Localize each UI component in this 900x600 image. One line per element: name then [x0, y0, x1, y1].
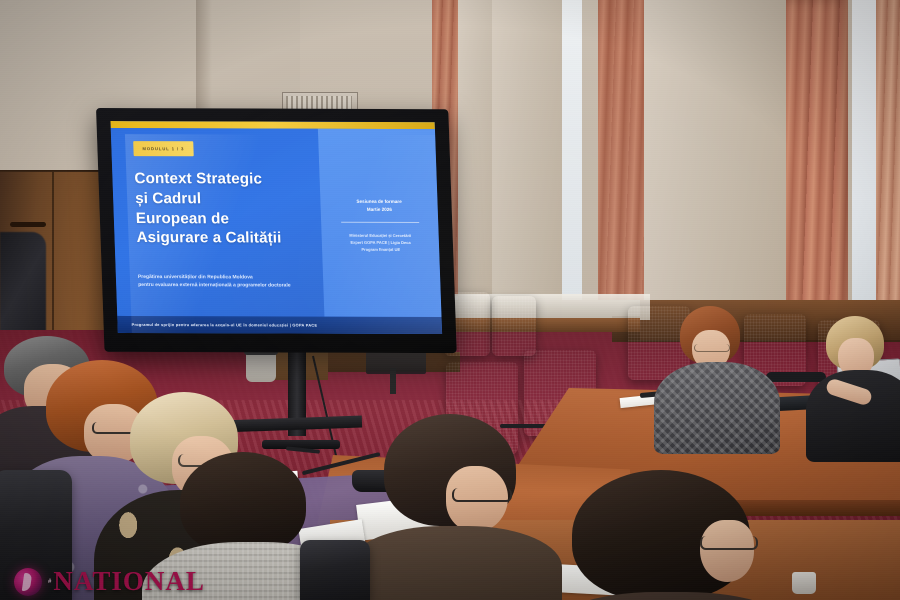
face [700, 520, 754, 582]
slide-org-line-3: Program finanțat UE [334, 246, 428, 254]
coat-hook [10, 222, 46, 227]
slide-title-line-1: Context Strategic [134, 169, 315, 189]
chair-foreground-middle [300, 540, 370, 600]
slide-module-badge: MODULUL 1 / 3 [133, 141, 193, 156]
watermark-logo-icon [14, 568, 42, 596]
hair [180, 452, 306, 554]
slide-module-badge-label: MODULUL 1 / 3 [142, 146, 184, 151]
wall-pillar-3 [458, 0, 492, 320]
chair-armrest [766, 372, 826, 382]
eyeglasses [700, 536, 758, 550]
slide-session-meta: Sesiunea de formare Martie 2026 [335, 198, 423, 213]
torso-patterned-top [654, 362, 780, 454]
slide-subtitle: Pregătirea universităților din Republica… [138, 273, 329, 290]
slide-title: Context Strategic și Cadrul European de … [134, 169, 317, 249]
torso-black-top [806, 370, 900, 462]
display-screen[interactable]: MODULUL 1 / 3 Context Strategic și Cadru… [110, 121, 442, 334]
wall-pillar-2 [644, 0, 788, 330]
photo-scene: MODULUL 1 / 3 Context Strategic și Cadru… [0, 0, 900, 600]
curtain-middle [598, 0, 644, 300]
wall-pillar-1 [490, 0, 562, 330]
wall-display[interactable]: MODULUL 1 / 3 Context Strategic și Cadru… [96, 108, 461, 359]
far-equipment-leg [390, 368, 396, 394]
watermark-prefix: # [48, 579, 51, 585]
slide-title-line-3: European de [136, 209, 317, 229]
slide-title-line-4: Asigurare a Calității [136, 228, 317, 248]
eyeglasses [452, 488, 512, 502]
watermark-text: NATIONAL [53, 566, 205, 597]
torso-brown-top [348, 526, 562, 600]
drink-cup [792, 572, 816, 594]
slide-footer-label: Programul de sprijin pentru aderarea la … [131, 316, 317, 334]
chair-background-2 [492, 296, 536, 356]
chair-base-1 [500, 424, 550, 428]
watermark: # NATIONAL [14, 566, 205, 597]
slide-title-line-2: și Cadrul [135, 189, 316, 209]
window-middle-2 [560, 0, 582, 300]
slide-organisation-block: Ministerul Educației și Cercetării Exper… [333, 232, 428, 254]
slide-subtitle-line-2: pentru evaluarea externă internațională … [138, 281, 328, 290]
slide-footer-bar: Programul de sprijin pentru aderarea la … [117, 316, 442, 334]
slide-session-date: Martie 2026 [335, 205, 423, 213]
eyeglasses [694, 344, 730, 352]
